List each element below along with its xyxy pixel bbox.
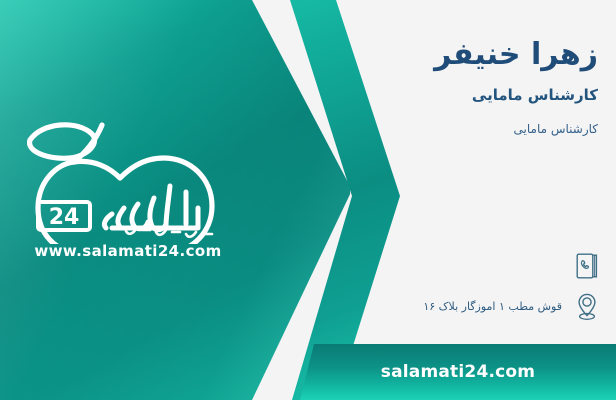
footer-bar: salamati24.com [300, 344, 616, 400]
contact-phone-value [312, 266, 562, 267]
profile-info: زهرا خنیفر کارشناس مامایی کارشناس مامایی [318, 36, 598, 136]
brand-script [104, 186, 198, 230]
brand-logo: 24 www.salamati24.com [16, 112, 246, 272]
logo-website-url[interactable]: www.salamati24.com [16, 242, 240, 260]
business-card: 24 www.salamati24.com زهرا خنیفر کارشناس… [0, 0, 616, 400]
svg-text:24: 24 [49, 205, 80, 230]
contact-address-value: قوش مطب ۱ اموزگار بلاک ۱۶ [312, 299, 562, 316]
badge-24: 24 [38, 202, 90, 230]
contact-list: قوش مطب ۱ اموزگار بلاک ۱۶ [312, 250, 602, 332]
person-title: کارشناس مامایی [318, 86, 598, 104]
phone-book-icon [572, 250, 602, 282]
person-name: زهرا خنیفر [318, 36, 598, 74]
apple-outline-logo: 24 [16, 112, 246, 244]
contact-row-address[interactable]: قوش مطب ۱ اموزگار بلاک ۱۶ [312, 291, 602, 323]
person-subtitle: کارشناس مامایی [318, 122, 598, 136]
location-pin-icon [572, 291, 602, 323]
contact-row-phone[interactable] [312, 250, 602, 282]
footer-website[interactable]: salamati24.com [300, 362, 616, 382]
